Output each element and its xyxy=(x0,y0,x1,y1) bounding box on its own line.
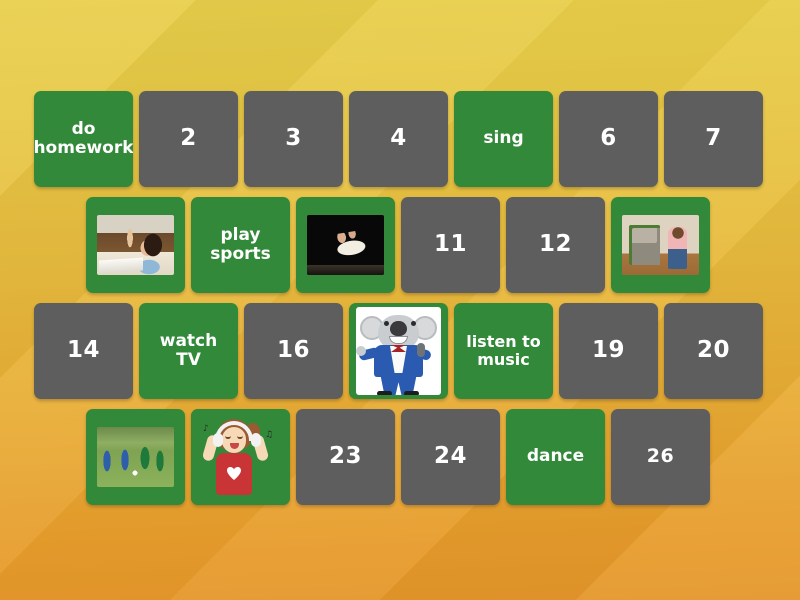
headphone-cup-right xyxy=(251,433,261,447)
kids-playing-soccer-photo xyxy=(97,427,174,487)
tile-watch-tv-photo[interactable] xyxy=(611,197,710,293)
tile-24[interactable]: 24 xyxy=(401,409,500,505)
tile-row-1: dohomework 2 3 4 sing 6 7 xyxy=(34,91,763,187)
ballet-dancers-photo xyxy=(307,215,384,275)
koala-shoe-left xyxy=(377,391,392,395)
tile-number: 12 xyxy=(539,232,572,258)
tile-14[interactable]: 14 xyxy=(34,303,133,399)
tile-label: playsports xyxy=(205,226,276,264)
tile-number: 26 xyxy=(647,446,674,467)
girl-with-headphones-illustration: ♪ ♫ ♪ xyxy=(191,409,290,505)
tile-number: 23 xyxy=(329,444,362,470)
tile-number: 24 xyxy=(434,444,467,470)
microphone-icon xyxy=(417,343,425,357)
tile-label: watchTV xyxy=(155,332,222,370)
tile-number: 3 xyxy=(285,126,302,152)
tile-number: 16 xyxy=(277,338,310,364)
tile-number: 14 xyxy=(67,338,100,364)
koala-eye-left-icon xyxy=(384,321,389,326)
music-note-icon: ♪ xyxy=(203,425,209,434)
matching-game-board: dohomework 2 3 4 sing 6 7 playsports xyxy=(0,0,800,600)
tile-16[interactable]: 16 xyxy=(244,303,343,399)
tile-6[interactable]: 6 xyxy=(559,91,658,187)
tile-number: 20 xyxy=(697,338,730,364)
tile-ballet-photo[interactable] xyxy=(296,197,395,293)
tile-23[interactable]: 23 xyxy=(296,409,395,505)
tile-number: 4 xyxy=(390,126,407,152)
tile-label: dohomework xyxy=(34,120,133,158)
tile-11[interactable]: 11 xyxy=(401,197,500,293)
tile-number: 7 xyxy=(705,126,722,152)
tile-row-2: playsports 11 12 xyxy=(86,197,710,293)
koala-eye-right-icon xyxy=(411,321,416,326)
child-watching-tv-photo xyxy=(622,215,699,275)
tile-do-homework-word[interactable]: dohomework xyxy=(34,91,133,187)
koala-hand-left xyxy=(356,346,366,356)
tile-7[interactable]: 7 xyxy=(664,91,763,187)
tile-number: 2 xyxy=(180,126,197,152)
music-note-icon: ♫ xyxy=(265,431,273,440)
tile-label: sing xyxy=(478,129,528,148)
tile-sing-word[interactable]: sing xyxy=(454,91,553,187)
tile-26[interactable]: 26 xyxy=(611,409,710,505)
tile-3[interactable]: 3 xyxy=(244,91,343,187)
tile-play-sports-word[interactable]: playsports xyxy=(191,197,290,293)
tile-row-4: ♪ ♫ ♪ 23 24 xyxy=(86,409,710,505)
tile-12[interactable]: 12 xyxy=(506,197,605,293)
tile-2[interactable]: 2 xyxy=(139,91,238,187)
tile-homework-photo[interactable] xyxy=(86,197,185,293)
girl-doing-homework-photo xyxy=(97,215,174,275)
headphone-cup-left xyxy=(213,433,223,447)
tile-4[interactable]: 4 xyxy=(349,91,448,187)
tile-dance-word[interactable]: dance xyxy=(506,409,605,505)
tile-watch-tv-word[interactable]: watchTV xyxy=(139,303,238,399)
tile-number: 6 xyxy=(600,126,617,152)
tile-play-sports-photo[interactable] xyxy=(86,409,185,505)
tile-19[interactable]: 19 xyxy=(559,303,658,399)
tile-listen-to-music-photo[interactable]: ♪ ♫ ♪ xyxy=(191,409,290,505)
tile-20[interactable]: 20 xyxy=(664,303,763,399)
tile-label: dance xyxy=(522,447,589,466)
tile-listen-to-music-word[interactable]: listen tomusic xyxy=(454,303,553,399)
tile-label: listen tomusic xyxy=(461,333,546,369)
singing-koala-photo xyxy=(356,307,441,395)
tile-number: 11 xyxy=(434,232,467,258)
koala-shoe-right xyxy=(404,391,419,395)
tile-row-3: 14 watchTV 16 xyxy=(34,303,763,399)
koala-nose-icon xyxy=(390,321,407,336)
tile-sing-photo[interactable] xyxy=(349,303,448,399)
tile-number: 19 xyxy=(592,338,625,364)
